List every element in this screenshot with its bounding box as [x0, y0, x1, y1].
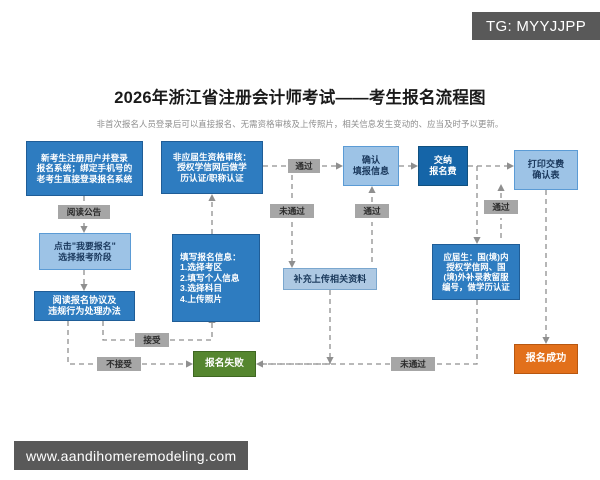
edge-label-accept: 接受: [135, 333, 169, 347]
edge-label-fail-1: 未通过: [270, 204, 314, 218]
node-registration-success[interactable]: 报名成功: [514, 344, 578, 374]
edge-label-pass-2: 通过: [355, 204, 389, 218]
edge-label-pass-1: 通过: [288, 159, 320, 173]
flowchart-canvas: TG: MYYJJPP 2026年浙江省注册会计师考试——考生报名流程图 非首次…: [0, 0, 600, 480]
edge-label-pass-3: 通过: [484, 200, 518, 214]
node-pay-fee[interactable]: 交纳 报名费: [418, 146, 468, 186]
node-confirm[interactable]: 确认 填报信息: [343, 146, 399, 186]
node-non-fresh-audit[interactable]: 非应届生资格审核： 授权学信网后做学 历认证/职称认证: [161, 141, 263, 194]
node-agreement[interactable]: 阅读报名协议及 违规行为处理办法: [34, 291, 135, 321]
node-registration-failed[interactable]: 报名失败: [193, 351, 256, 377]
node-fill-info[interactable]: 填写报名信息： 1.选择考区 2.填写个人信息 3.选择科目 4.上传照片: [172, 234, 260, 322]
node-supplement[interactable]: 补充上传相关资料: [283, 268, 377, 290]
node-fresh-grad[interactable]: 应届生：国(境)内 授权学信网、国 (境)外补录教留服 编号，做学历认证: [432, 244, 520, 300]
node-print-form[interactable]: 打印交费 确认表: [514, 150, 578, 190]
node-apply-click[interactable]: 点击"我要报名" 选择报考阶段: [39, 233, 131, 270]
edge-label-read-notice: 阅读公告: [58, 205, 110, 219]
edge-label-not-accept: 不接受: [97, 357, 141, 371]
node-register[interactable]: 新考生注册用户并登录 报名系统；绑定手机号的 老考生直接登录报名系统: [26, 141, 143, 196]
edge-label-fail-2: 未通过: [391, 357, 435, 371]
